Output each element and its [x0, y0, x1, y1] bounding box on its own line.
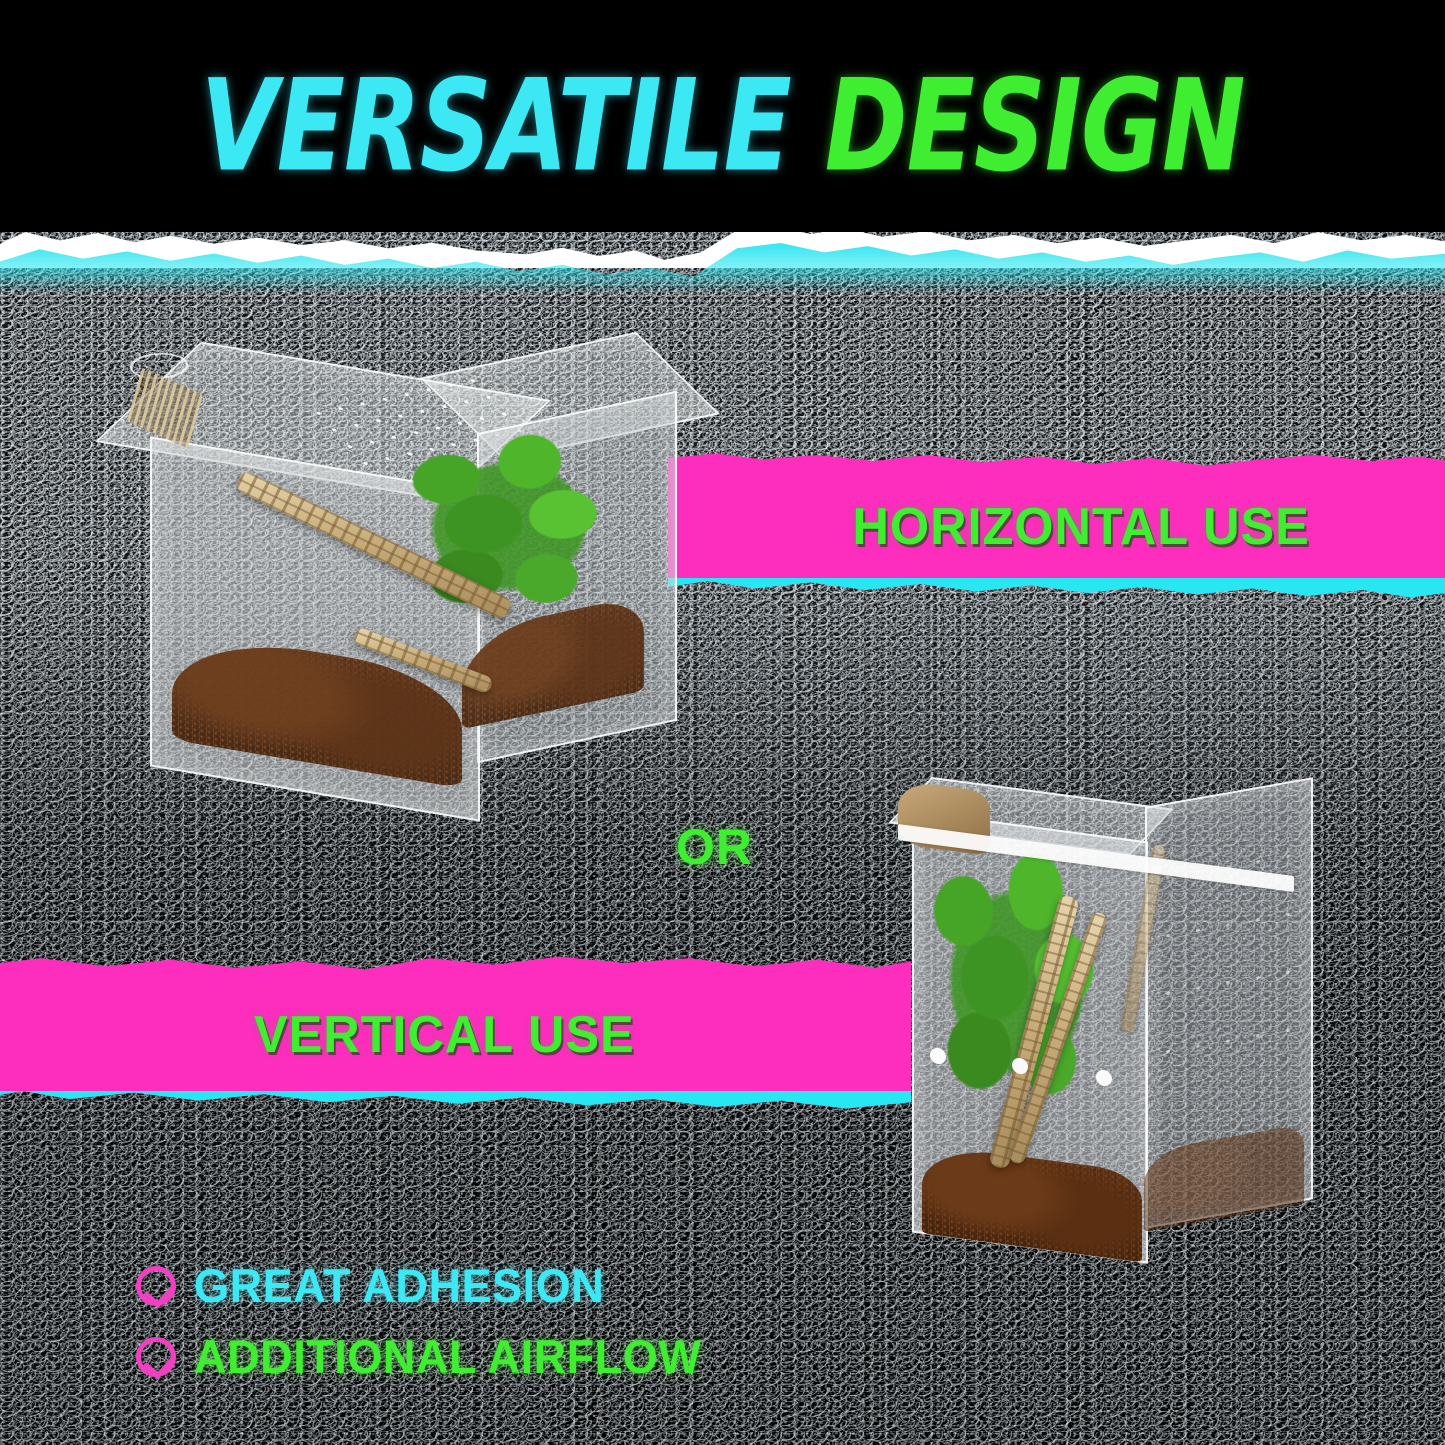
banner-vertical-use: VERTICAL USE — [0, 955, 911, 1115]
banner-horizontal-use: HORIZONTAL USE — [668, 452, 1445, 602]
page-title-part-1: VERSATILE — [200, 51, 790, 200]
banner-horizontal-use-label: HORIZONTAL USE — [680, 452, 1445, 602]
header-band: VERSATILE DESIGN — [0, 0, 1445, 232]
page-title-part-2: DESIGN — [825, 51, 1245, 200]
or-separator-label: OR — [676, 818, 753, 876]
banner-vertical-use-label: VERTICAL USE — [0, 955, 897, 1115]
feature-item-great-adhesion: GREAT ADHESION — [136, 1258, 723, 1313]
check-circle-icon — [136, 1337, 176, 1377]
check-circle-icon — [136, 1266, 176, 1306]
feature-item-additional-airflow: ADDITIONAL AIRFLOW — [136, 1329, 723, 1384]
product-image-vertical-enclosure — [898, 786, 1338, 1284]
feature-label-additional-airflow: ADDITIONAL AIRFLOW — [194, 1329, 701, 1384]
page-title: VERSATILE DESIGN — [29, 62, 1416, 189]
poster-canvas: HORIZONTAL USE OR VERTICAL USE GREAT ADH… — [0, 0, 1445, 1445]
feature-label-great-adhesion: GREAT ADHESION — [194, 1258, 604, 1313]
feature-list: GREAT ADHESION ADDITIONAL AIRFLOW — [136, 1258, 723, 1400]
product-image-horizontal-enclosure — [132, 352, 692, 832]
